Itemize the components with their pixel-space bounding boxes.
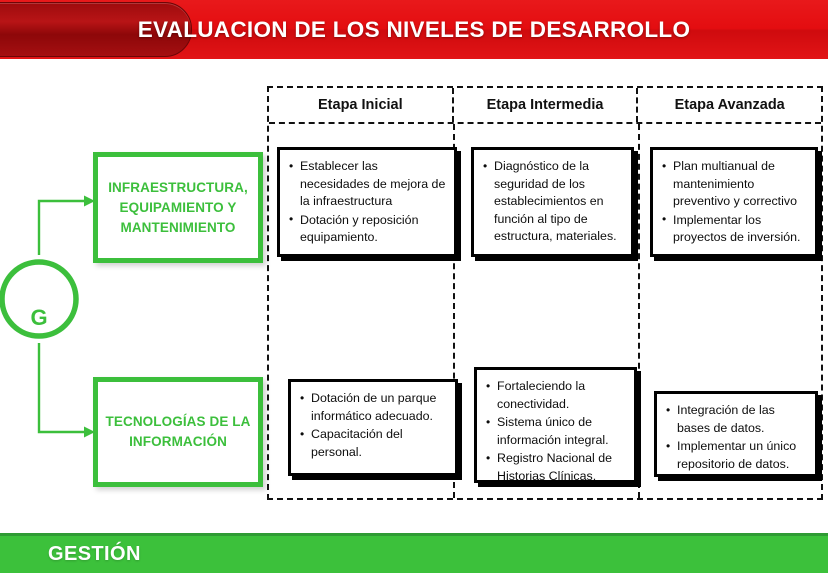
bullet-list: Plan multianual de mantenimiento prevent… bbox=[659, 158, 807, 247]
column-header-etapa-intermedia: Etapa Intermedia bbox=[452, 88, 637, 122]
list-item: Registro Nacional de Historias Clínicas. bbox=[497, 450, 626, 485]
list-item: Sistema único de información integral. bbox=[497, 414, 626, 449]
list-item: Implementar un único repositorio de dato… bbox=[677, 438, 807, 473]
list-item: Integración de las bases de datos. bbox=[677, 402, 807, 437]
header-banner: EVALUACION DE LOS NIVELES DE DESARROLLO bbox=[0, 0, 828, 59]
content-box-ti-inicial[interactable]: Dotación de un parque informático adecua… bbox=[288, 379, 458, 476]
bullet-list: Establecer las necesidades de mejora de … bbox=[286, 158, 446, 247]
bullet-list: Diagnóstico de la seguridad de los estab… bbox=[480, 158, 623, 246]
content-box-infra-intermedia[interactable]: Diagnóstico de la seguridad de los estab… bbox=[471, 147, 634, 257]
list-item: Fortaleciendo la conectividad. bbox=[497, 378, 626, 413]
list-item: Plan multianual de mantenimiento prevent… bbox=[673, 158, 807, 211]
bullet-list: Integración de las bases de datos. Imple… bbox=[663, 402, 807, 473]
bullet-list: Fortaleciendo la conectividad. Sistema ú… bbox=[483, 378, 626, 485]
list-item: Dotación de un parque informático adecua… bbox=[311, 390, 447, 425]
list-item: Diagnóstico de la seguridad de los estab… bbox=[494, 158, 623, 246]
list-item: Implementar los proyectos de inversión. bbox=[673, 212, 807, 247]
list-item: Dotación y reposición equipamiento. bbox=[300, 212, 446, 247]
list-item: Capacitación del personal. bbox=[311, 426, 447, 461]
matrix-column-divider bbox=[638, 124, 640, 498]
footer-label: GESTIÓN bbox=[48, 536, 141, 573]
content-box-ti-avanzada[interactable]: Integración de las bases de datos. Imple… bbox=[654, 391, 818, 477]
content-box-ti-intermedia[interactable]: Fortaleciendo la conectividad. Sistema ú… bbox=[474, 367, 637, 483]
content-box-infra-inicial[interactable]: Establecer las necesidades de mejora de … bbox=[277, 147, 457, 257]
page-title: EVALUACION DE LOS NIVELES DE DESARROLLO bbox=[0, 0, 828, 59]
column-header-etapa-avanzada: Etapa Avanzada bbox=[636, 88, 821, 122]
category-label: INFRAESTRUCTURA, EQUIPAMIENTO Y MANTENIM… bbox=[98, 178, 258, 238]
category-box-tecnologias[interactable]: TECNOLOGÍAS DE LA INFORMACIÓN bbox=[93, 377, 263, 487]
column-header-etapa-inicial: Etapa Inicial bbox=[269, 88, 452, 122]
gestion-node-label: G bbox=[0, 297, 78, 339]
list-item: Establecer las necesidades de mejora de … bbox=[300, 158, 446, 211]
content-box-infra-avanzada[interactable]: Plan multianual de mantenimiento prevent… bbox=[650, 147, 818, 257]
bullet-list: Dotación de un parque informático adecua… bbox=[297, 390, 447, 461]
category-box-infraestructura[interactable]: INFRAESTRUCTURA, EQUIPAMIENTO Y MANTENIM… bbox=[93, 152, 263, 263]
category-label: TECNOLOGÍAS DE LA INFORMACIÓN bbox=[98, 412, 258, 452]
matrix-header-row: Etapa Inicial Etapa Intermedia Etapa Ava… bbox=[269, 88, 821, 124]
footer-bar: GESTIÓN bbox=[0, 533, 828, 573]
